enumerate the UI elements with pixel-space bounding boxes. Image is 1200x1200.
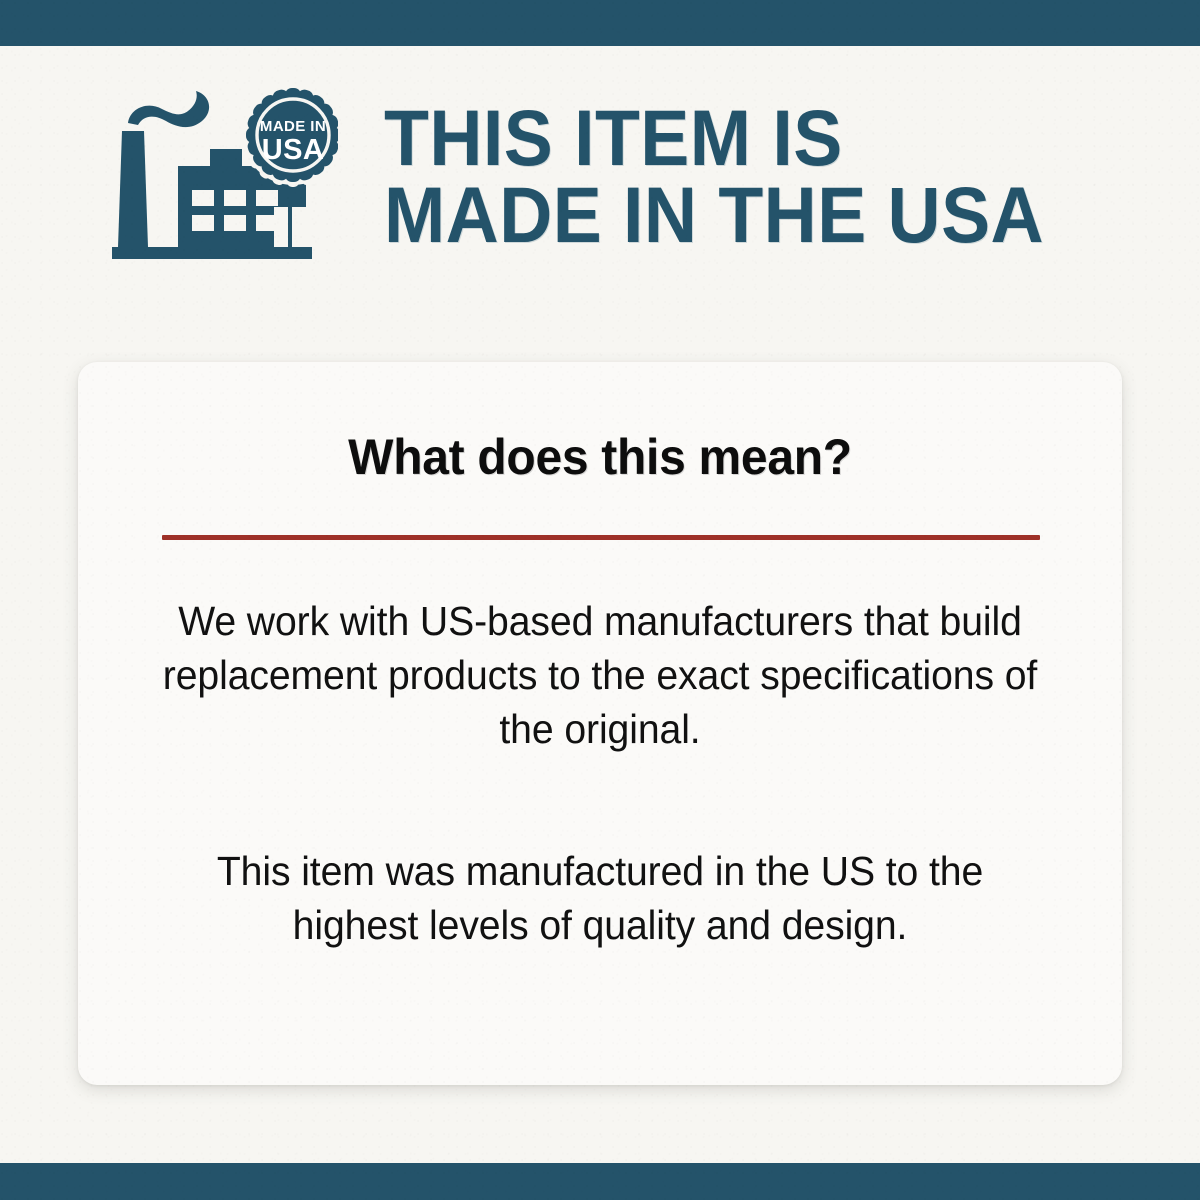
body-paragraph-1: We work with US-based manufacturers that… <box>159 594 1041 756</box>
title-divider <box>162 535 1040 540</box>
factory-base-icon <box>112 247 312 259</box>
page-headline: THIS ITEM IS MADE IN THE USA <box>384 99 1044 254</box>
bottom-accent-bar <box>0 1163 1200 1200</box>
smoke-icon <box>128 91 209 127</box>
badge-line-2: USA <box>262 134 324 166</box>
badge-line-1: MADE IN <box>260 118 326 135</box>
header: MADE IN USA THIS ITEM IS MADE IN THE USA <box>0 46 1200 306</box>
chimney-icon <box>118 131 148 247</box>
made-in-usa-logo: MADE IN USA <box>106 87 338 265</box>
top-accent-bar <box>0 0 1200 46</box>
card-body: We work with US-based manufacturers that… <box>159 594 1041 953</box>
card-title: What does this mean? <box>99 428 1101 486</box>
explanation-card: What does this mean? We work with US-bas… <box>78 362 1122 1085</box>
body-paragraph-2: This item was manufactured in the US to … <box>159 844 1041 952</box>
